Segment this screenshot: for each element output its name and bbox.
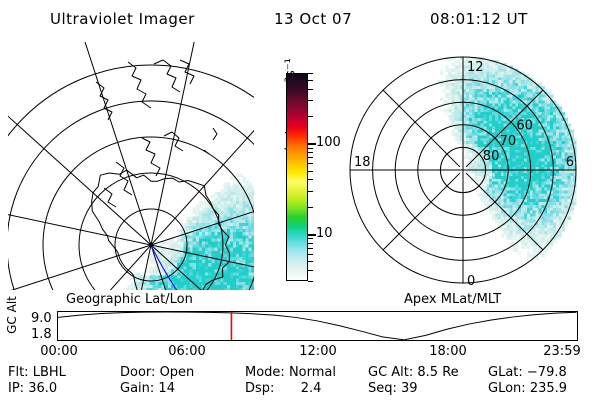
colorbar-minor-tick	[308, 152, 313, 153]
mlat-ring-label-60: 60	[516, 119, 533, 134]
colorbar-gradient-box	[286, 73, 308, 281]
status-filter: Flt: LBHL	[8, 365, 66, 380]
status-mode-value: Normal	[289, 365, 336, 380]
instrument-title: Ultraviolet Imager	[50, 10, 195, 28]
status-seq: Seq: 39	[368, 381, 418, 396]
status-glon-label: GLon:	[488, 381, 526, 396]
colorbar-minor-tick	[308, 261, 313, 262]
colorbar-minor-tick	[308, 248, 313, 249]
status-seq-value: 39	[401, 381, 418, 396]
status-door-value: Open	[160, 365, 195, 380]
orbit-plot-svg	[58, 312, 577, 340]
aurora-emission	[118, 173, 254, 290]
mlt-hour-label-18: 18	[354, 155, 371, 170]
colorbar-minor-tick	[308, 80, 313, 81]
right-panel-title: Apex MLat/MLT	[404, 292, 501, 307]
colorbar-major-tick	[308, 234, 316, 236]
status-mode: Mode: Normal	[245, 365, 336, 380]
colorbar-minor-tick	[308, 179, 313, 180]
orbit-altitude-trace	[58, 312, 577, 340]
left-panel-title: Geographic Lat/Lon	[66, 292, 193, 307]
status-ip-label: IP:	[8, 381, 24, 396]
colorbar-minor-tick	[308, 116, 313, 117]
time-axis-tick-label: 06:00	[167, 344, 207, 359]
mlt-hour-label-0: 0	[467, 274, 475, 289]
status-glat-label: GLat:	[488, 365, 523, 380]
header-bar: Ultraviolet Imager 13 Oct 07 08:01:12 UT	[0, 6, 600, 32]
status-gcalt-label: GC Alt:	[368, 365, 413, 380]
mlt-grid	[350, 57, 576, 283]
time-axis-tick-label: 12:00	[298, 344, 338, 359]
status-dsp-value: 2.4	[301, 381, 322, 396]
colorbar-minor-tick	[308, 238, 313, 239]
colorbar-minor-tick	[308, 243, 313, 244]
orbit-y-axis-label: GC Alt	[5, 292, 19, 338]
status-ip: IP: 36.0	[8, 381, 57, 396]
status-dsp: Dsp: 2.4	[245, 381, 321, 396]
time-axis-tick-label: 00:00	[39, 344, 79, 359]
colorbar-minor-tick	[308, 191, 313, 192]
observation-date: 13 Oct 07	[274, 10, 352, 28]
colorbar-minor-tick	[308, 73, 313, 74]
colorbar-minor-tick	[308, 207, 313, 208]
status-glat: GLat: −79.8	[488, 365, 567, 380]
status-gain: Gain: 14	[120, 381, 175, 396]
colorbar-minor-tick	[308, 148, 313, 149]
status-filter-value: LBHL	[33, 365, 66, 380]
mlat-ring-label-70: 70	[500, 134, 517, 149]
colorbar-minor-tick	[308, 157, 313, 158]
time-axis-tick-label: 23:59	[542, 344, 582, 359]
status-glon-value: 235.9	[530, 381, 567, 396]
mlt-dial-svg: 126018607080	[330, 42, 596, 292]
status-glat-value: −79.8	[527, 365, 567, 380]
status-gcalt: GC Alt: 8.5 Re	[368, 365, 459, 380]
colorbar-minor-tick	[308, 171, 313, 172]
colorbar-minor-tick	[308, 281, 313, 282]
status-mode-label: Mode:	[245, 365, 285, 380]
time-axis-tick-label: 18:00	[428, 344, 468, 359]
observation-time: 08:01:12 UT	[430, 10, 528, 28]
colorbar-minor-tick	[308, 270, 313, 271]
orbit-altitude-plot[interactable]	[57, 311, 578, 341]
status-glon: GLon: 235.9	[488, 381, 567, 396]
colorbar-minor-tick	[308, 100, 313, 101]
status-dsp-label: Dsp:	[245, 381, 274, 396]
colorbar-minor-tick	[308, 89, 313, 90]
colorbar-major-tick	[308, 143, 316, 145]
colorbar-minor-tick	[308, 254, 313, 255]
colorbar-gradient	[287, 74, 307, 280]
mlt-hour-label-6: 6	[566, 155, 574, 170]
mlat-ring-label-80: 80	[483, 149, 500, 164]
mlt-dial-panel[interactable]: 126018607080	[330, 42, 596, 292]
pole-marker	[149, 243, 153, 247]
status-door-label: Door:	[120, 365, 155, 380]
status-ip-value: 36.0	[28, 381, 57, 396]
colorbar-minor-tick	[308, 163, 313, 164]
orbit-y-min-label: 1.8	[31, 327, 52, 342]
orbit-y-max-label: 9.0	[31, 311, 52, 326]
status-filter-label: Flt:	[8, 365, 29, 380]
status-gain-label: Gain:	[120, 381, 154, 396]
mlt-hour-label-12: 12	[467, 60, 484, 75]
status-door: Door: Open	[120, 365, 194, 380]
status-gcalt-value: 8.5 Re	[417, 365, 458, 380]
geographic-map-svg	[8, 42, 254, 290]
colorbar: photon cm⁻²s⁻¹ 10010	[258, 45, 328, 290]
status-seq-label: Seq:	[368, 381, 397, 396]
status-gain-value: 14	[158, 381, 175, 396]
geographic-map-panel[interactable]	[8, 42, 254, 290]
